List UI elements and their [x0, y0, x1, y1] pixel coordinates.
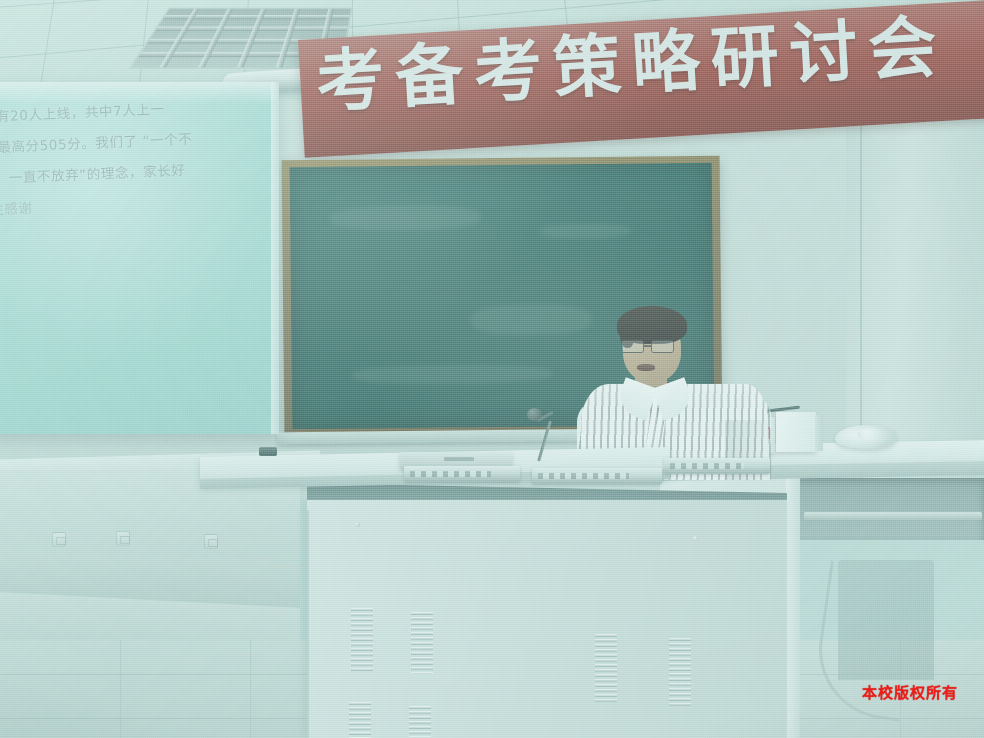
copyright-watermark: 本校版权所有 [862, 682, 958, 703]
vent-column-4 [669, 638, 691, 706]
cabinet-door-edge [307, 510, 309, 738]
wall-outlet-3[interactable] [204, 534, 218, 549]
vent-column-2b [409, 706, 431, 738]
eyebrow-left [622, 334, 642, 337]
wall-outlet-1[interactable] [52, 532, 66, 547]
vent-column-1 [351, 608, 373, 672]
photograph-canvas: screen 考备考策略研讨会 共有20人上线，共中7人上一 最高分505分。我… [0, 0, 984, 738]
vent-column-1b [349, 702, 371, 738]
wall-outlet-2[interactable] [116, 531, 130, 546]
vent-column-2 [411, 612, 433, 674]
cabinet-screw-right [693, 536, 698, 541]
shelf-rail [804, 512, 982, 520]
vent-column-3 [595, 634, 617, 702]
eyebrow-right [652, 334, 672, 337]
side-desk-open-shelf [792, 478, 984, 540]
aux-panel[interactable] [664, 458, 770, 474]
eyeglasses-icon [621, 340, 683, 353]
cabinet-screw-left [355, 522, 360, 527]
aux-panel-buttons[interactable] [670, 463, 744, 469]
lens-left [621, 340, 644, 353]
gooseneck-microphone[interactable] [527, 408, 542, 421]
slide-text-block: 共有20人上线，共中7人上一 最高分505分。我们了 “一个不 一直不放弃”的理… [0, 89, 287, 226]
desk-knob[interactable] [259, 447, 277, 456]
control-panel[interactable] [404, 466, 520, 482]
lens-right [651, 340, 674, 353]
glasses-bridge [644, 345, 651, 347]
side-desk-leg [786, 478, 800, 738]
control-panel-buttons[interactable] [410, 471, 491, 477]
crumpled-tissue[interactable] [835, 425, 897, 449]
mixer-panel[interactable] [532, 468, 662, 484]
white-carton-box[interactable] [776, 412, 816, 452]
mouth [637, 364, 655, 371]
hair [617, 306, 687, 344]
mixer-panel-buttons[interactable] [538, 473, 629, 479]
podium-cabinet[interactable] [307, 500, 787, 738]
